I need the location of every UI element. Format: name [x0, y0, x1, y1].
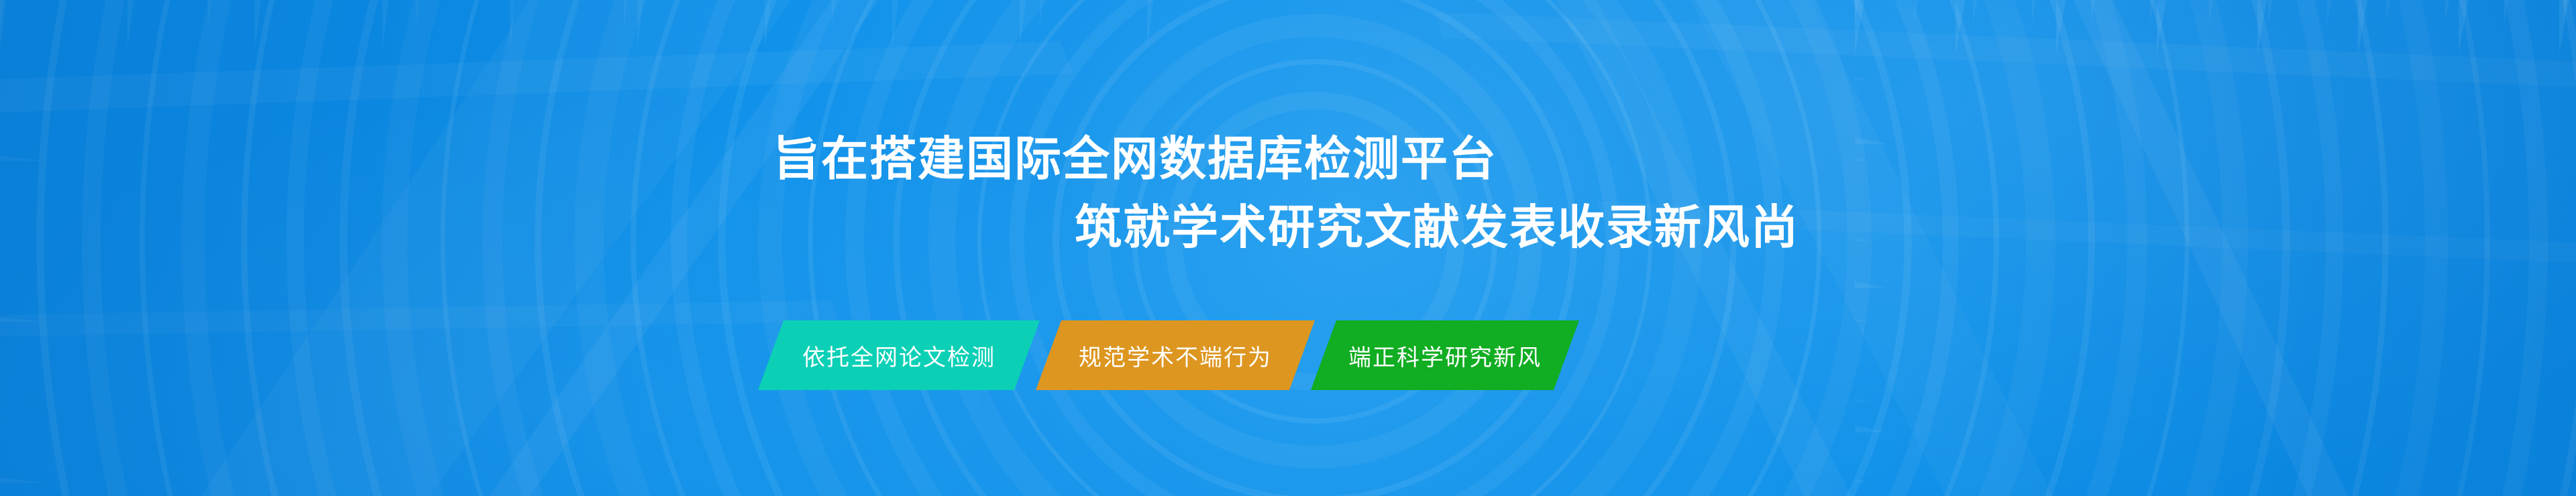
- feature-tag-research-ethics[interactable]: 端正科学研究新风: [1311, 320, 1579, 390]
- headline-line-2: 筑就学术研究文献发表收录新风尚: [1075, 193, 2576, 261]
- feature-tag-label: 端正科学研究新风: [1348, 339, 1542, 372]
- feature-tag-ribbon: 依托全网论文检测 规范学术不端行为 端正科学研究新风: [758, 320, 1575, 390]
- promo-banner: 旨在搭建国际全网数据库检测平台 筑就学术研究文献发表收录新风尚 依托全网论文检测…: [0, 0, 2576, 496]
- feature-tag-misconduct-regulation[interactable]: 规范学术不端行为: [1036, 320, 1315, 390]
- headline-block: 旨在搭建国际全网数据库检测平台 筑就学术研究文献发表收录新风尚: [0, 125, 2576, 261]
- feature-tag-label: 规范学术不端行为: [1079, 339, 1272, 372]
- headline-line-1: 旨在搭建国际全网数据库检测平台: [773, 125, 2576, 193]
- feature-tag-label: 依托全网论文检测: [802, 339, 996, 372]
- feature-tag-plagiarism-detection[interactable]: 依托全网论文检测: [758, 320, 1040, 390]
